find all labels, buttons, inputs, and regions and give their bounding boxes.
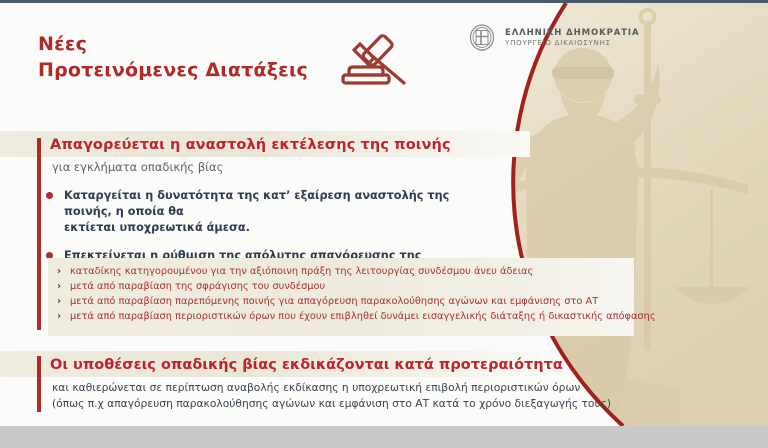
chevron-right-icon: › [57,279,61,294]
sub-list-item-label: καταδίκης κατηγορουμένου για την αξιόποι… [70,266,533,277]
section-2-body: και καθιερώνεται σε περίπτωση αναβολής ε… [52,380,672,412]
sub-list-item-label: μετά από παραβίαση περιοριστικών όρων πο… [70,311,656,322]
list-item: Καταργείται η δυνατότητα της κατ’ εξαίρε… [46,188,476,236]
section-1-accent-bar [37,138,41,330]
sub-list-item-label: μετά από παραβίαση παρεπόμενης ποινής γι… [70,296,598,307]
sub-list-item: › μετά από παραβίαση της σφράγισης του σ… [48,279,634,294]
slide-header: Νέες Προτεινόμενες Διατάξεις [0,3,768,115]
chevron-right-icon: › [57,264,61,279]
sub-list-item-label: μετά από παραβίαση της σφράγισης του συν… [70,281,325,292]
ministry-logo: ΕΛΛΗΝΙΚΗ ΔΗΜΟΚΡΑΤΙΑ ΥΠΟΥΡΓΕΙΟ ΔΙΚΑΙΟΣΥΝΗ… [468,23,639,53]
presentation-slide: Νέες Προτεινόμενες Διατάξεις [0,0,768,448]
section-1-heading: Απαγορεύεται η αναστολή εκτέλεσης της πο… [50,137,451,153]
section-2-accent-bar [37,356,41,412]
bullet-line: Καταργείται η δυνατότητα της κατ’ εξαίρε… [64,188,476,220]
section-1-subheading: για εγκλήματα οπαδικής βίας [52,160,223,174]
section-2-heading: Οι υποθέσεις οπαδικής βίας εκδικάζονται … [50,357,563,373]
chevron-right-icon: › [57,294,61,309]
gavel-icon [340,31,414,93]
bottom-strip [0,426,768,448]
greek-coat-of-arms-icon [468,23,496,53]
chevron-right-icon: › [57,309,61,324]
bullet-dot-icon [46,192,53,199]
section-1-sub-list: › καταδίκης κατηγορουμένου για την αξιόπ… [48,258,634,336]
sub-list-item: › καταδίκης κατηγορουμένου για την αξιόπ… [48,264,634,279]
section-2-body-line-2: (όπως π.χ απαγόρευση παρακολούθησης αγών… [52,396,672,412]
logo-line-1: ΕΛΛΗΝΙΚΗ ΔΗΜΟΚΡΑΤΙΑ [505,28,639,39]
sub-list-item: › μετά από παραβίαση περιοριστικών όρων … [48,309,634,324]
logo-line-2: ΥΠΟΥΡΓΕΙΟ ΔΙΚΑΙΟΣΥΝΗΣ [505,39,639,48]
page-title: Νέες Προτεινόμενες Διατάξεις [38,31,308,83]
section-2-body-line-1: και καθιερώνεται σε περίπτωση αναβολής ε… [52,380,672,396]
bullet-line: εκτίεται υποχρεωτικά άμεσα. [64,220,476,236]
sub-list-item: › μετά από παραβίαση παρεπόμενης ποινής … [48,294,634,309]
title-line-2: Προτεινόμενες Διατάξεις [38,57,308,83]
title-line-1: Νέες [38,31,308,57]
